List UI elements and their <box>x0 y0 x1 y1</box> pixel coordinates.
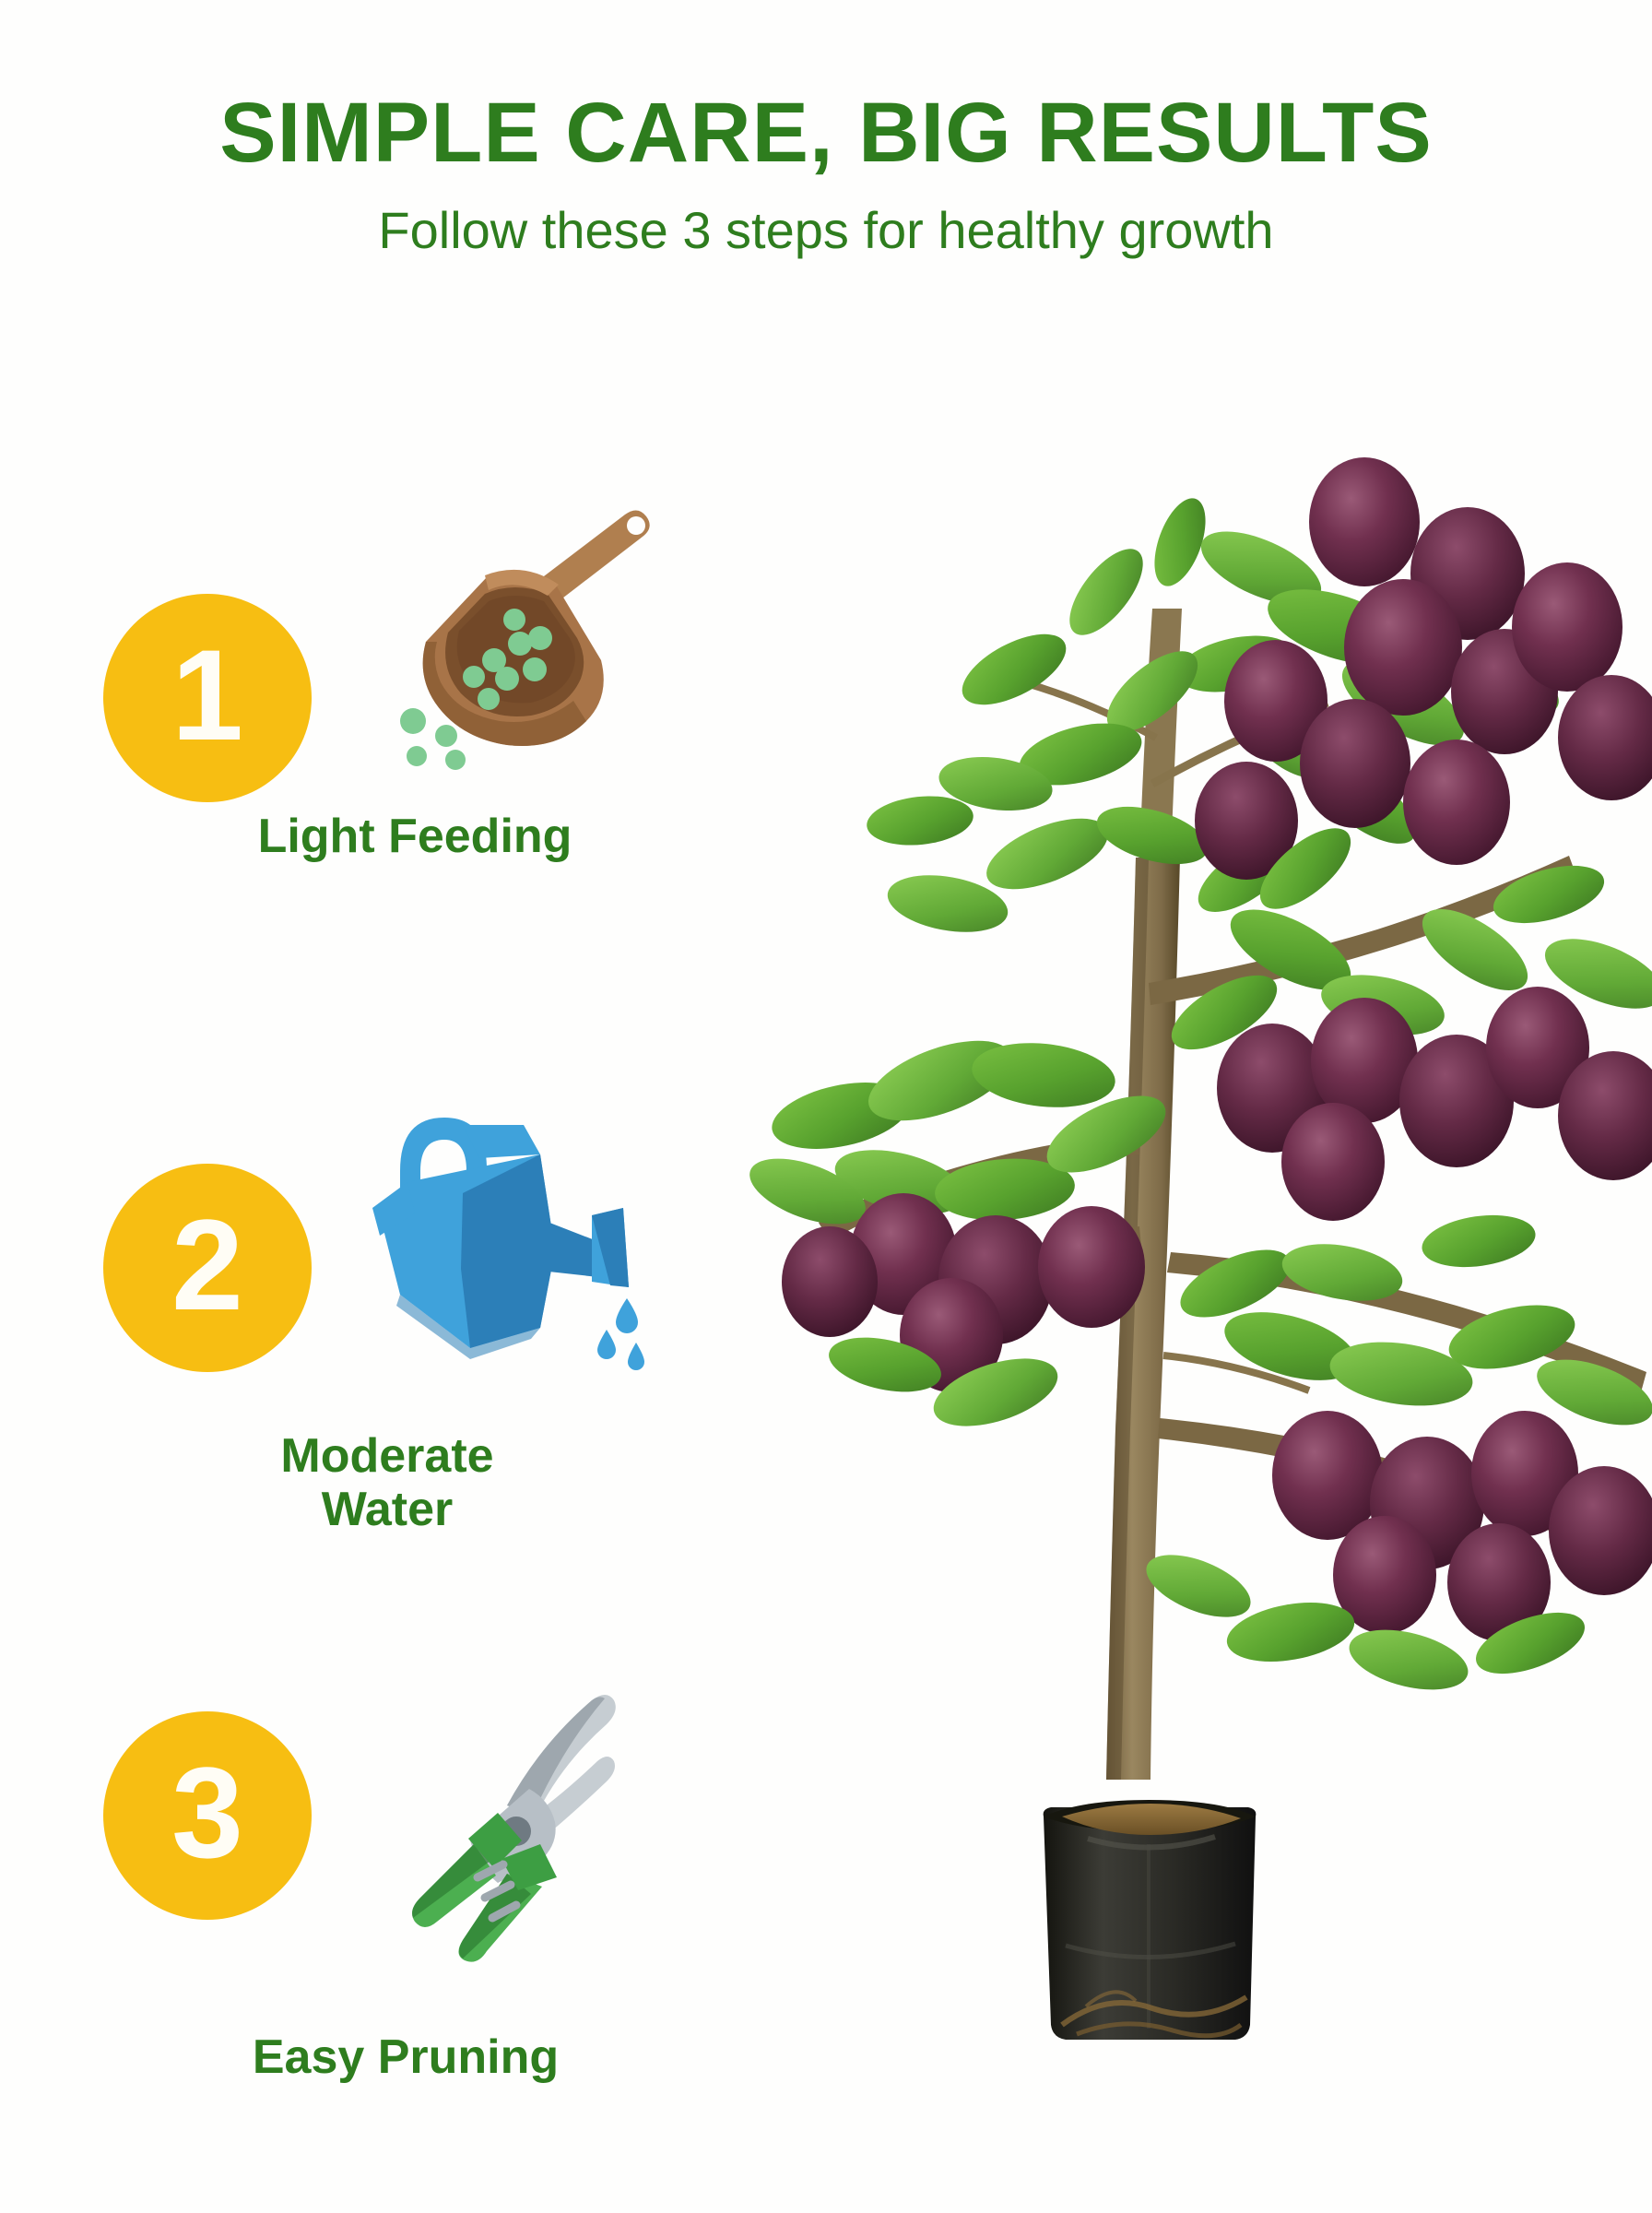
watering-can-icon <box>360 1097 664 1402</box>
step-item-easy-pruning: 3 <box>0 1697 774 2158</box>
step-label-1: Light Feeding <box>212 810 618 863</box>
infographic-poster: SIMPLE CARE, BIG RESULTS Follow these 3 … <box>0 0 1652 2213</box>
fertilizer-scoop-icon <box>360 479 673 775</box>
page-subtitle: Follow these 3 steps for healthy growth <box>0 202 1652 259</box>
pruning-shears-icon <box>360 1660 655 1964</box>
care-steps-list: 1 <box>0 553 774 2139</box>
step-label-2: Moderate Water <box>184 1429 590 1536</box>
step-number-1: 1 <box>171 631 243 760</box>
step-label-2-line-1: Moderate <box>280 1429 493 1483</box>
page-title: SIMPLE CARE, BIG RESULTS <box>0 89 1652 178</box>
step-number-badge-1: 1 <box>103 594 312 802</box>
poster-header: SIMPLE CARE, BIG RESULTS Follow these 3 … <box>0 89 1652 258</box>
potted-plum-tree-photo <box>719 304 1652 2102</box>
step-item-moderate-water: 2 <box>0 1125 774 1586</box>
step-number-3: 3 <box>171 1748 243 1877</box>
step-number-2: 2 <box>171 1201 243 1330</box>
step-number-badge-3: 3 <box>103 1711 312 1920</box>
step-number-badge-2: 2 <box>103 1164 312 1372</box>
step-label-3: Easy Pruning <box>203 2030 608 2084</box>
step-item-light-feeding: 1 <box>0 553 774 941</box>
step-label-2-line-2: Water <box>322 1483 454 1536</box>
